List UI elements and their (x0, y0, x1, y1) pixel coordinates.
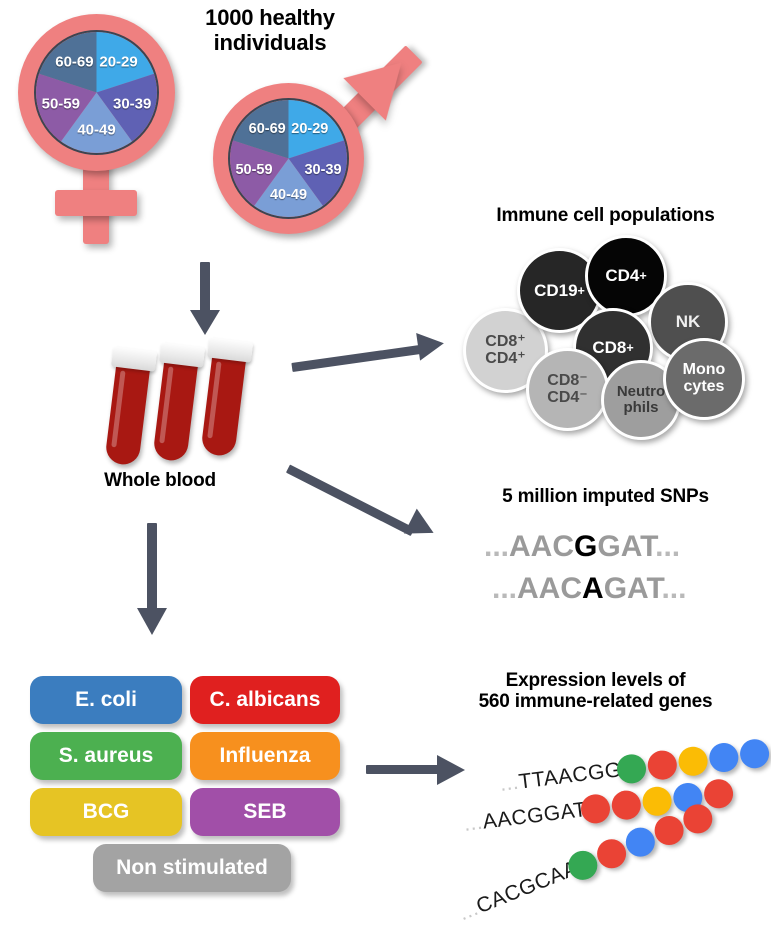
arrow-shaft (366, 765, 442, 774)
arrow-shaft (147, 523, 157, 613)
snp-variant-base: G (574, 530, 597, 563)
pie-label-30-39: 30-39 (113, 96, 151, 113)
gene-bead (646, 749, 678, 781)
snp-suffix-bases: GAT (597, 530, 655, 563)
pie-label-40-49: 40-49 (77, 122, 115, 139)
section-title-expression: Expression levels of 560 immune-related … (420, 670, 771, 713)
snp-tail-ellipsis: ... (655, 530, 680, 563)
snp-lead-ellipsis: ... (492, 572, 517, 605)
pie-label-30-39: 30-39 (304, 162, 341, 178)
gene-sequence-text: ...CACGCAA (456, 857, 582, 927)
figure-canvas: 1000 healthy individuals 20-2930-3940-49… (0, 0, 771, 922)
arrow-head (404, 509, 440, 546)
stimulus-seb[interactable]: SEB (190, 788, 340, 836)
pie-label-40-49: 40-49 (270, 187, 307, 203)
age-distribution-pie-male: 20-2930-3940-4950-5960-69 (228, 98, 349, 219)
gene-strands-group: ...TTAACGG ...AACGGAT ...CACGCAA (470, 735, 771, 915)
snp-variant-base: A (582, 572, 604, 605)
stimulus-e-coli[interactable]: E. coli (30, 676, 182, 724)
pie-label-50-59: 50-59 (235, 162, 272, 178)
cell-label: CD19 (534, 282, 577, 300)
snp-lead-ellipsis: ... (484, 530, 509, 563)
whole-blood-tubes (115, 348, 265, 468)
male-symbol: 20-2930-3940-4950-5960-69 (205, 55, 435, 255)
snp-sequence-row-1: ...AACGGAT... (484, 530, 680, 564)
gene-bead (708, 741, 740, 773)
stimulus-bcg[interactable]: BCG (30, 788, 182, 836)
snp-prefix-bases: AAC (517, 572, 582, 605)
blood-tube-2 (152, 354, 199, 462)
blood-tube-1 (104, 358, 151, 466)
female-stem-horizontal (55, 190, 137, 216)
tube-body (200, 349, 247, 457)
snp-suffix-bases: GAT (604, 572, 662, 605)
gene-bead (679, 800, 717, 838)
section-title-snps: 5 million imputed SNPs (440, 486, 771, 507)
gene-sequence-text: ...AACGGAT (463, 798, 589, 837)
arrow-shaft (200, 262, 210, 314)
arrow-head (190, 310, 220, 335)
immune-cell-monocytes: Mono cytes (663, 338, 745, 420)
pie-label-20-29: 20-29 (291, 121, 328, 137)
blood-tube-3 (200, 349, 247, 457)
pie-label-50-59: 50-59 (42, 96, 80, 113)
immune-cell-cluster: CD8⁺ CD4⁺ CD19+ CD4+ NK CD8+ CD8⁻ CD4⁻ N… (455, 230, 765, 430)
stimuli-panel: E. coli C. albicans S. aureus Influenza … (30, 676, 350, 896)
cell-label: CD4 (605, 267, 639, 285)
stimulus-influenza[interactable]: Influenza (190, 732, 340, 780)
pie-label-60-69: 60-69 (249, 121, 286, 137)
age-distribution-pie-female: 20-2930-3940-4950-5960-69 (34, 30, 159, 155)
arrow-shaft (291, 345, 424, 372)
arrow-shaft (286, 464, 415, 536)
tube-highlight (207, 361, 221, 438)
gene-bead (610, 789, 642, 821)
snp-sequence-block: ...AACGGAT... ...AACAGAT... (470, 530, 750, 620)
arrow-head (137, 608, 167, 635)
snp-tail-ellipsis: ... (661, 572, 686, 605)
tube-highlight (111, 370, 125, 447)
stimulus-c-albicans[interactable]: C. albicans (190, 676, 340, 724)
immune-cell-cd8neg-cd4neg: CD8⁻ CD4⁻ (526, 348, 609, 431)
stimulus-s-aureus[interactable]: S. aureus (30, 732, 182, 780)
arrow-head (437, 755, 465, 785)
page-title-cohort: 1000 healthy individuals (160, 6, 380, 55)
section-title-immune-cells: Immune cell populations (440, 205, 771, 226)
sequence-bases: AACGGAT (481, 798, 588, 834)
stimulus-non-stimulated[interactable]: Non stimulated (93, 844, 291, 892)
gene-bead (738, 738, 770, 770)
female-symbol: 20-2930-3940-4950-5960-69 (8, 12, 188, 257)
arrow-head (416, 329, 446, 360)
pie-label-20-29: 20-29 (99, 54, 137, 71)
gene-bead (677, 745, 709, 777)
tube-highlight (159, 366, 173, 443)
pie-label-60-69: 60-69 (55, 54, 93, 71)
snp-sequence-row-2: ...AACAGAT... (492, 572, 686, 606)
cell-label: CD8 (592, 339, 626, 357)
label-whole-blood: Whole blood (70, 470, 250, 491)
tube-body (152, 354, 199, 462)
snp-prefix-bases: AAC (509, 530, 574, 563)
tube-body (104, 358, 151, 466)
sequence-bases: CACGCAA (473, 857, 581, 919)
